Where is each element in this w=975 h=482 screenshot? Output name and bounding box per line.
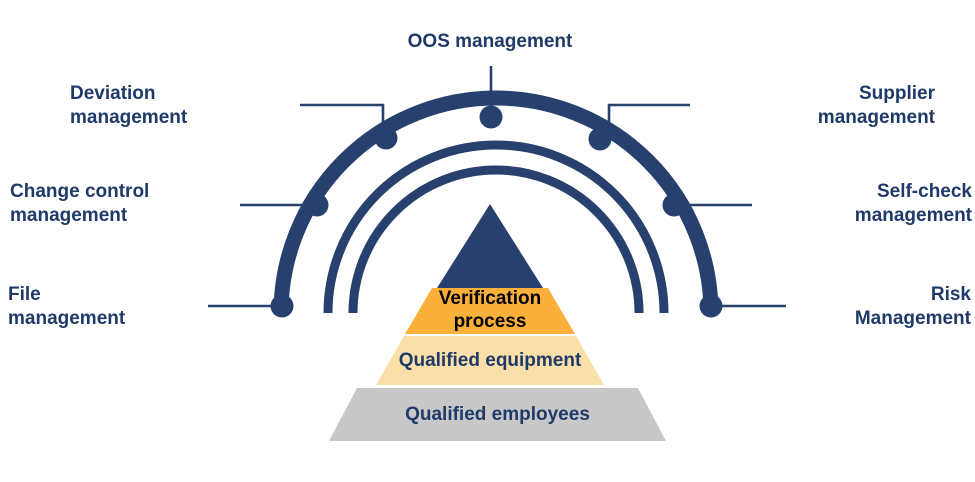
label-risk-management[interactable]: Risk Management xyxy=(791,283,971,332)
arc-node-risk-management[interactable] xyxy=(700,295,723,318)
arc-node-oos-management[interactable] xyxy=(480,106,503,129)
arc-node-supplier-management[interactable] xyxy=(589,128,612,151)
pyramid-tier-qualified-employees[interactable] xyxy=(329,388,666,441)
arc-node-self-check-management[interactable] xyxy=(663,194,686,217)
label-oos-management[interactable]: OOS management xyxy=(345,30,635,54)
arc-node-change-control-management[interactable] xyxy=(306,194,329,217)
pyramid-apex[interactable] xyxy=(437,204,543,288)
arc-node-deviation-management[interactable] xyxy=(375,127,398,150)
diagram-canvas: OOS management Deviation management Chan… xyxy=(0,0,975,482)
arc-node-file-management[interactable] xyxy=(271,295,294,318)
label-self-check-management[interactable]: Self-check management xyxy=(757,180,972,229)
pyramid-tier-verification-process[interactable] xyxy=(405,288,575,334)
label-deviation-management[interactable]: Deviation management xyxy=(70,82,295,131)
label-change-control-management[interactable]: Change control management xyxy=(10,180,235,229)
label-supplier-management[interactable]: Supplier management xyxy=(695,82,935,131)
arch-pyramid-graphic xyxy=(0,0,975,482)
pyramid-tier-qualified-equipment[interactable] xyxy=(376,336,604,385)
label-file-management[interactable]: File management xyxy=(8,283,203,332)
